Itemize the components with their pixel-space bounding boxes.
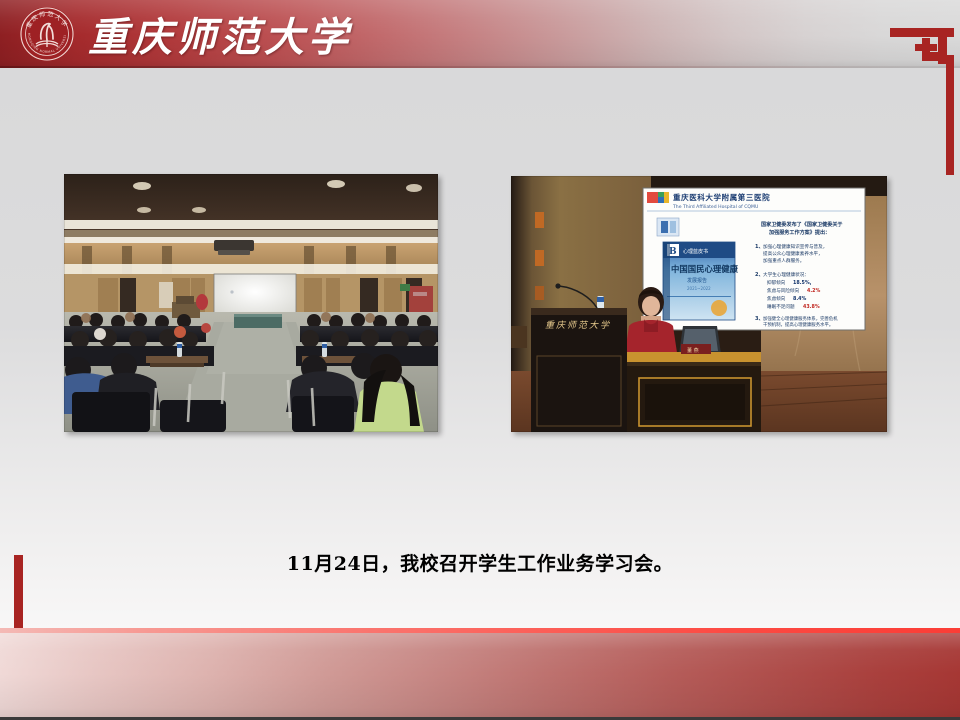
bottom-band [0, 633, 960, 718]
svg-text:The Third Affiliated Hospital: The Third Affiliated Hospital of CQMU [672, 204, 758, 210]
svg-text:加强重点人群服务。: 加强重点人群服务。 [763, 257, 804, 264]
svg-text:焦虑倾向: 焦虑倾向 [767, 295, 786, 302]
svg-text:8.4%: 8.4% [793, 296, 806, 302]
svg-text:中国国民心理健康: 中国国民心理健康 [671, 264, 739, 274]
svg-text:4.2%: 4.2% [807, 288, 820, 294]
corner-ornament-top-right-icon [850, 0, 960, 175]
svg-text:加强心理健康知识宣传与普及，: 加强心理健康知识宣传与普及， [763, 243, 827, 250]
svg-text:抑郁倾向: 抑郁倾向 [767, 279, 786, 286]
svg-text:加强健全心理健康服务体系，完善危机: 加强健全心理健康服务体系，完善危机 [763, 315, 838, 322]
svg-text:重庆医科大学附属第三医院: 重庆医科大学附属第三医院 [673, 192, 770, 202]
slide-caption: 11月24日，我校召开学生工作业务学习会。 [0, 549, 960, 576]
header-underline [0, 66, 960, 68]
university-seal-icon: 重庆师范大学 CHONGQING NORMAL UNIVERSITY [19, 6, 75, 62]
svg-text:焦虑与风险倾向: 焦虑与风险倾向 [767, 287, 800, 294]
svg-text:2021~2022: 2021~2022 [687, 286, 711, 291]
photo-auditorium-audience [64, 174, 438, 432]
svg-text:心理蓝皮书: 心理蓝皮书 [683, 248, 708, 255]
svg-text:睡眠不足问题: 睡眠不足问题 [767, 303, 795, 310]
svg-text:干预机制，提高心理健康服务水平。: 干预机制，提高心理健康服务水平。 [763, 321, 833, 328]
svg-text:大学生心理健康状况：: 大学生心理健康状况： [763, 271, 809, 278]
svg-text:发展报告: 发展报告 [687, 277, 707, 284]
svg-text:提高公众心理健康素养水平，: 提高公众心理健康素养水平， [763, 250, 823, 257]
photo-speaker-podium: 重庆医科大学附属第三医院 The Third Affiliated Hospit… [511, 176, 887, 432]
svg-text:国家卫健委发布了《国家卫健委关于: 国家卫健委发布了《国家卫健委关于 [761, 221, 843, 228]
svg-text:18.5%,: 18.5%, [793, 280, 812, 286]
svg-text:重庆师范大学: 重庆师范大学 [545, 320, 611, 331]
presentation-slide: 重庆师范大学 CHONGQING NORMAL UNIVERSITY 重庆师范大… [0, 0, 960, 720]
svg-text:43.8%: 43.8% [803, 304, 820, 310]
svg-text:B: B [669, 247, 677, 257]
svg-text:加强服务工作方案》提出：: 加强服务工作方案》提出： [768, 229, 830, 236]
svg-text:董 燕: 董 燕 [687, 347, 699, 354]
page-title: 重庆师范大学 [88, 5, 352, 63]
